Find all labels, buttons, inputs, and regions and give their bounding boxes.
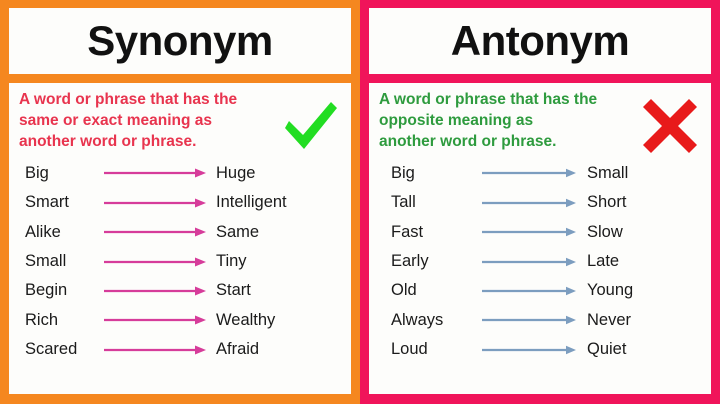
arrow-right-icon	[103, 314, 207, 326]
synonym-source-word: Small	[25, 252, 103, 271]
synonym-target-word: Intelligent	[207, 193, 339, 212]
antonym-pair-list: Big Small Tall	[369, 159, 711, 365]
list-item: Loud Quiet	[391, 335, 699, 364]
antonym-source-word: Always	[391, 311, 477, 330]
antonym-definition-line-1: A word or phrase that has the	[379, 89, 614, 110]
antonym-title-box: Antonym	[369, 8, 711, 74]
antonym-target-word: Never	[573, 311, 699, 330]
synonym-pair-list: Big Huge Smart	[9, 159, 351, 365]
arrow-right-icon	[103, 226, 207, 238]
synonym-body-box: A word or phrase that has the same or ex…	[9, 83, 351, 394]
antonym-title: Antonym	[451, 20, 630, 62]
antonym-target-word: Quiet	[573, 340, 699, 359]
synonym-target-word: Afraid	[207, 340, 339, 359]
synonym-antonym-comparison-board: Synonym A word or phrase that has the sa…	[0, 0, 720, 404]
list-item: Smart Intelligent	[25, 188, 339, 217]
arrow-right-icon	[477, 344, 573, 356]
antonym-source-word: Early	[391, 252, 477, 271]
list-item: Scared Afraid	[25, 335, 339, 364]
list-item: Tall Short	[391, 188, 699, 217]
list-item: Big Small	[391, 159, 699, 188]
antonym-source-word: Tall	[391, 193, 477, 212]
synonym-target-word: Same	[207, 223, 339, 242]
synonym-source-word: Alike	[25, 223, 103, 242]
list-item: Alike Same	[25, 217, 339, 246]
synonym-definition-line-1: A word or phrase that has the	[19, 89, 254, 110]
arrow-right-icon	[477, 167, 573, 179]
synonym-definition: A word or phrase that has the same or ex…	[9, 89, 264, 153]
antonym-source-word: Big	[391, 164, 477, 183]
synonym-source-word: Scared	[25, 340, 103, 359]
synonym-definition-line-2: same or exact meaning as	[19, 110, 254, 131]
arrow-right-icon	[103, 197, 207, 209]
synonym-definition-line-3: another word or phrase.	[19, 131, 254, 152]
arrow-right-icon	[103, 256, 207, 268]
list-item: Small Tiny	[25, 247, 339, 276]
list-item: Always Never	[391, 306, 699, 335]
list-item: Begin Start	[25, 276, 339, 305]
antonym-target-word: Short	[573, 193, 699, 212]
antonym-source-word: Loud	[391, 340, 477, 359]
antonym-definition-line-3: another word or phrase.	[379, 131, 614, 152]
antonym-target-word: Slow	[573, 223, 699, 242]
arrow-right-icon	[477, 226, 573, 238]
arrow-right-icon	[103, 344, 207, 356]
antonym-body-box: A word or phrase that has the opposite m…	[369, 83, 711, 394]
antonym-definition-line-2: opposite meaning as	[379, 110, 614, 131]
arrow-right-icon	[477, 256, 573, 268]
list-item: Old Young	[391, 276, 699, 305]
antonym-source-word: Fast	[391, 223, 477, 242]
synonym-title-box: Synonym	[9, 8, 351, 74]
green-check-icon	[279, 95, 341, 157]
synonym-title: Synonym	[87, 20, 273, 62]
list-item: Fast Slow	[391, 217, 699, 246]
antonym-definition: A word or phrase that has the opposite m…	[369, 89, 624, 153]
antonym-target-word: Small	[573, 164, 699, 183]
synonym-target-word: Tiny	[207, 252, 339, 271]
list-item: Rich Wealthy	[25, 306, 339, 335]
arrow-right-icon	[477, 314, 573, 326]
arrow-right-icon	[103, 285, 207, 297]
synonym-target-word: Start	[207, 281, 339, 300]
arrow-right-icon	[477, 285, 573, 297]
list-item: Big Huge	[25, 159, 339, 188]
red-cross-icon	[639, 95, 701, 157]
arrow-right-icon	[477, 197, 573, 209]
synonym-target-word: Wealthy	[207, 311, 339, 330]
synonym-target-word: Huge	[207, 164, 339, 183]
antonym-target-word: Late	[573, 252, 699, 271]
antonym-source-word: Old	[391, 281, 477, 300]
synonym-source-word: Rich	[25, 311, 103, 330]
synonym-source-word: Smart	[25, 193, 103, 212]
synonym-source-word: Big	[25, 164, 103, 183]
list-item: Early Late	[391, 247, 699, 276]
antonym-target-word: Young	[573, 281, 699, 300]
arrow-right-icon	[103, 167, 207, 179]
synonym-source-word: Begin	[25, 281, 103, 300]
synonym-panel: Synonym A word or phrase that has the sa…	[0, 0, 360, 404]
antonym-panel: Antonym A word or phrase that has the op…	[360, 0, 720, 404]
